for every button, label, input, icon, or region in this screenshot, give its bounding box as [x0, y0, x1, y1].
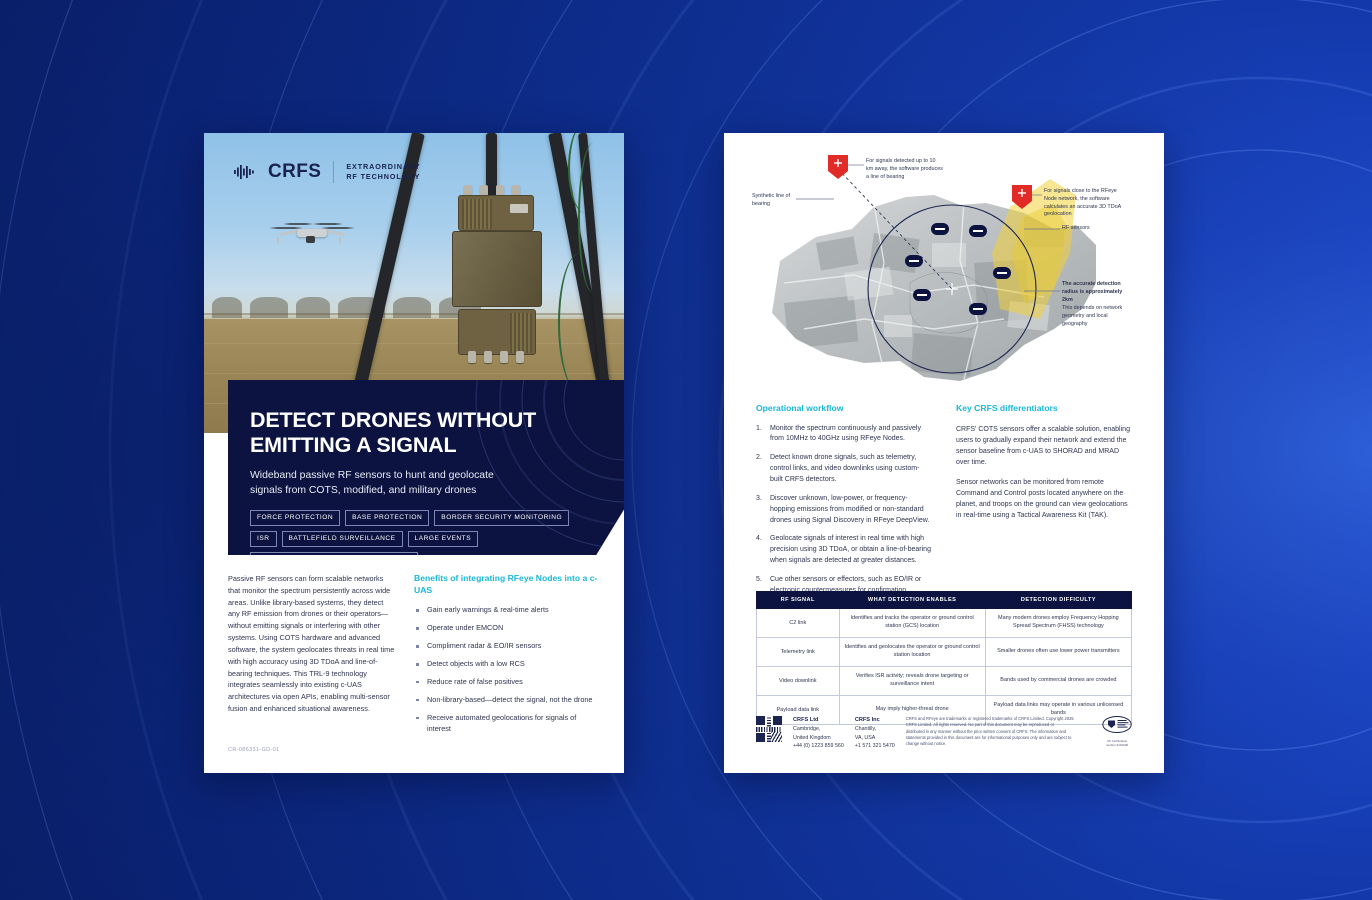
workflow-list: Monitor the spectrum continuously and pa… [756, 424, 932, 608]
differentiator-paragraph: CRFS' COTS sensors offer a scalable solu… [956, 424, 1132, 468]
rf-sensor-node-main [452, 231, 542, 307]
annotation-synthetic-line-of-bearing: Synthetic line of bearing [752, 193, 798, 209]
crfs-logo-lockup: CRFS EXTRAORDINARY RF TECHNOLOGY [234, 161, 420, 183]
office-name: CRFS Inc [855, 717, 880, 723]
list-item: Non-library-based—detect the signal, not… [414, 695, 600, 706]
rf-sensor-node-bottom [458, 309, 536, 355]
office-phone[interactable]: +44 (0) 1223 859 560 [793, 743, 844, 749]
table-row: C2 link Identifies and tracks the operat… [757, 609, 1132, 638]
chip-critical-infrastructure[interactable]: CRITICAL INFRASTRUCTURE PROTECTION [250, 552, 418, 568]
page-footer: CRFS Ltd Cambridge, United Kingdom +44 (… [756, 716, 1132, 751]
annotation-detection-radius-title: The accurate detection radius is approxi… [1062, 281, 1128, 304]
intro-paragraph: Passive RF sensors can form scalable net… [228, 573, 396, 715]
brand-name: CRFS [268, 161, 321, 183]
column-header-rf-signal: RF SIGNAL [757, 592, 840, 609]
chip-base-protection[interactable]: BASE PROTECTION [345, 510, 429, 526]
quadcopter-drone-icon [269, 219, 355, 245]
list-item: Geolocate signals of interest in real ti… [756, 534, 932, 567]
cell-signal: Telemetry link [757, 637, 840, 666]
headline-panel: DETECT DRONES WITHOUT EMITTING A SIGNAL … [228, 380, 624, 555]
benefits-column: Benefits of integrating RFeye Nodes into… [414, 573, 600, 742]
list-item: Operate under EMCON [414, 623, 600, 634]
cell-difficulty: Smaller drones often use lower power tra… [985, 637, 1131, 666]
qr-code-icon[interactable] [756, 716, 782, 742]
annotation-tdoa-geolocation: For signals close to the RFeye Node netw… [1044, 188, 1126, 219]
office-country: United Kingdom [793, 735, 831, 741]
list-item: Detect known drone signals, such as tele… [756, 453, 932, 486]
logo-divider [333, 161, 334, 183]
brand-tagline-line1: EXTRAORDINARY [346, 162, 420, 171]
differentiators-column: Key CRFS differentiators CRFS' COTS sens… [956, 403, 1132, 615]
iso-certification-caption: UK Certification number 9101628 [1102, 740, 1132, 747]
geolocation-diagram: For signals detected up to 10 km away, t… [724, 133, 1164, 401]
benefits-heading: Benefits of integrating RFeye Nodes into… [414, 573, 600, 596]
cell-enables: Identifies and tracks the operator or gr… [839, 609, 985, 638]
drone-threat-marker-far [828, 155, 848, 179]
chip-battlefield-surveillance[interactable]: BATTLEFIELD SURVEILLANCE [282, 531, 403, 547]
office-address-us: CRFS Inc Chantilly, VA, USA +1 571 321 5… [855, 716, 895, 751]
front-body-columns: Passive RF sensors can form scalable net… [228, 573, 600, 742]
annotation-rf-sensors: RF sensors [1062, 225, 1122, 233]
table-header-row: RF SIGNAL WHAT DETECTION ENABLES DETECTI… [757, 592, 1132, 609]
office-country: VA, USA [855, 735, 876, 741]
list-item: Gain early warnings & real-time alerts [414, 605, 600, 616]
iso-certification-badge-icon [1102, 716, 1132, 733]
chip-isr[interactable]: ISR [250, 531, 277, 547]
office-address-uk: CRFS Ltd Cambridge, United Kingdom +44 (… [793, 716, 844, 751]
document-code: CR-086331-GD-01 [228, 747, 279, 753]
brochure-page-front: CRFS EXTRAORDINARY RF TECHNOLOGY DETECT … [204, 133, 624, 773]
headline-line-2: EMITTING A SIGNAL [250, 433, 456, 457]
cell-enables: Identifies and geolocates the operator o… [839, 637, 985, 666]
office-city: Cambridge, [793, 726, 820, 732]
cell-signal: Video downlink [757, 666, 840, 695]
table-row: Video downlink Verifies ISR activity; re… [757, 666, 1132, 695]
cell-enables: Verifies ISR activity; reveals drone tar… [839, 666, 985, 695]
column-header-difficulty: DETECTION DIFFICULTY [985, 592, 1131, 609]
cell-difficulty: Many modern drones employ Frequency Hopp… [985, 609, 1131, 638]
annotation-line-of-bearing-range: For signals detected up to 10 km away, t… [866, 158, 944, 181]
office-city: Chantilly, [855, 726, 876, 732]
brochure-page-back: For signals detected up to 10 km away, t… [724, 133, 1164, 773]
rf-sensor-node-top [458, 195, 534, 231]
panel-arc-decoration [434, 380, 624, 555]
table-row: Telemetry link Identifies and geolocates… [757, 637, 1132, 666]
workflow-column: Operational workflow Monitor the spectru… [756, 403, 932, 615]
list-item: Detect objects with a low RCS [414, 659, 600, 670]
column-header-enables: WHAT DETECTION ENABLES [839, 592, 985, 609]
cell-signal: C2 link [757, 609, 840, 638]
map-graphic [724, 133, 1164, 401]
legal-copyright-text: CRFS and RFeye are trademarks or registe… [906, 716, 1074, 747]
list-item: Compliment radar & EO/IR sensors [414, 641, 600, 652]
waveform-icon [234, 165, 256, 179]
differentiators-heading: Key CRFS differentiators [956, 403, 1132, 415]
intro-column: Passive RF sensors can form scalable net… [228, 573, 396, 742]
office-phone[interactable]: +1 571 321 5470 [855, 743, 895, 749]
list-item: Reduce rate of false positives [414, 677, 600, 688]
annotation-detection-radius-body: This depends on network geometry and loc… [1062, 305, 1128, 328]
chip-force-protection[interactable]: FORCE PROTECTION [250, 510, 340, 526]
list-item: Monitor the spectrum continuously and pa… [756, 424, 932, 446]
rf-signal-table: RF SIGNAL WHAT DETECTION ENABLES DETECTI… [756, 591, 1132, 725]
workflow-heading: Operational workflow [756, 403, 932, 415]
list-item: Discover unknown, low-power, or frequenc… [756, 494, 932, 527]
differentiator-paragraph: Sensor networks can be monitored from re… [956, 477, 1132, 521]
brand-tagline-line2: RF TECHNOLOGY [346, 172, 420, 181]
iso-certification-block: UK Certification number 9101628 [1102, 716, 1132, 747]
benefits-list: Gain early warnings & real-time alerts O… [414, 605, 600, 735]
list-item: Receive automated geolocations for signa… [414, 713, 600, 735]
office-name: CRFS Ltd [793, 717, 818, 723]
cell-difficulty: Bands used by commercial drones are crow… [985, 666, 1131, 695]
back-body-columns: Operational workflow Monitor the spectru… [756, 403, 1132, 615]
